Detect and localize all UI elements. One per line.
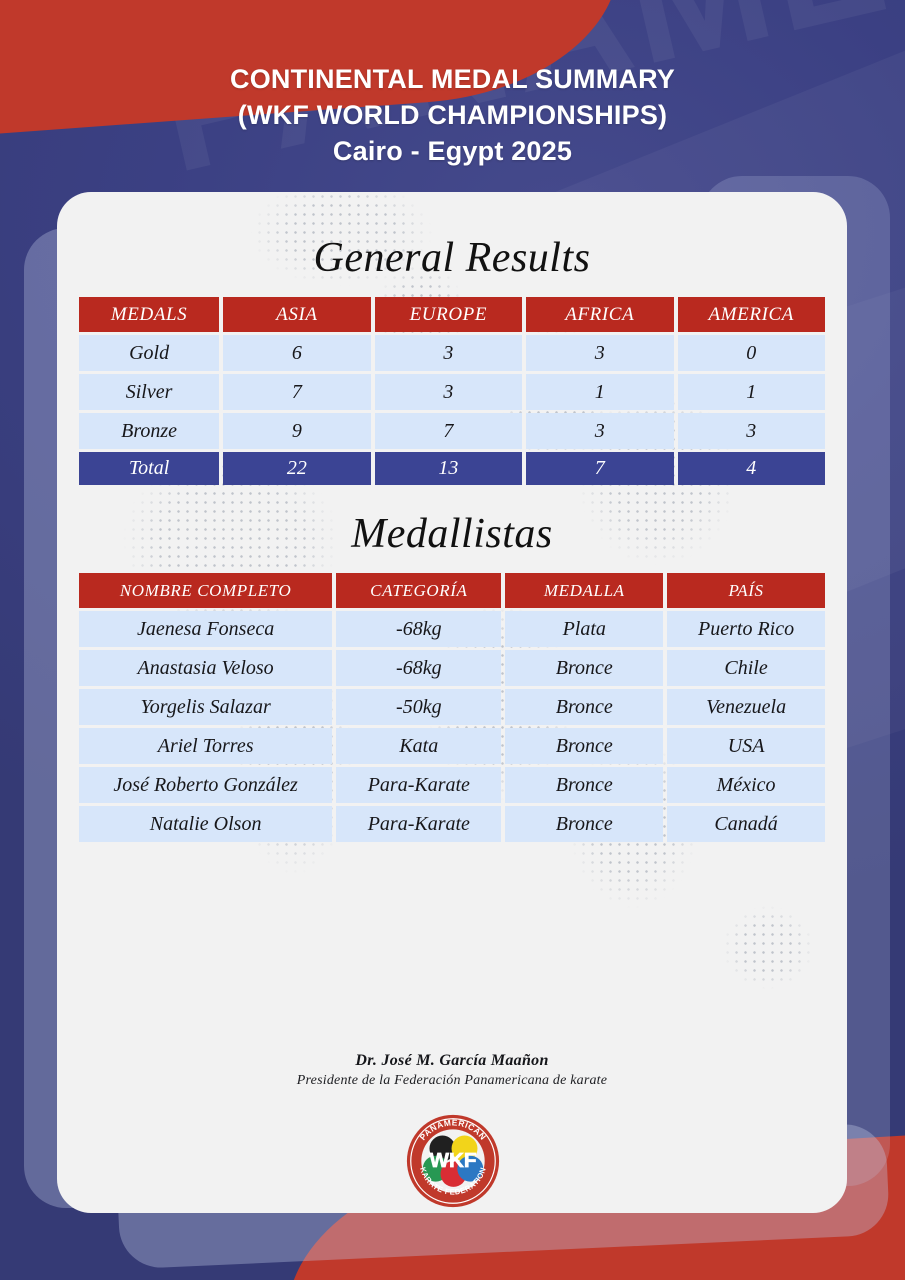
cell-country: USA [667,728,825,764]
col-header-medals: MEDALS [79,297,219,332]
cell-category: Para-Karate [336,806,501,842]
cell-medal: Bronce [505,806,663,842]
cell-gold-asia: 6 [223,335,370,371]
table-row: Jaenesa Fonseca -68kg Plata Puerto Rico [79,611,825,647]
poster-root: PANAMERICAN CONTINENTAL MEDAL SUMMARY (W… [0,0,905,1280]
cell-category: -68kg [336,650,501,686]
cell-name: Natalie Olson [79,806,332,842]
svg-text:WKF: WKF [429,1149,476,1172]
content-card: General Results MEDALS ASIA EUROPE AFRIC… [57,192,847,1213]
signature-name: Dr. José M. García Maañon [57,1052,847,1070]
cell-medal: Bronce [505,650,663,686]
cell-country: Puerto Rico [667,611,825,647]
col-header-nombre-completo: NOMBRE COMPLETO [79,573,332,608]
cell-country: Venezuela [667,689,825,725]
table-row: Anastasia Veloso -68kg Bronce Chile [79,650,825,686]
general-results-table-wrap: MEDALS ASIA EUROPE AFRICA AMERICA Gold 6… [75,282,829,488]
cell-bronze-asia: 9 [223,413,370,449]
col-header-asia: ASIA [223,297,370,332]
cell-name: Anastasia Veloso [79,650,332,686]
cell-country: Canadá [667,806,825,842]
cell-medal: Bronce [505,689,663,725]
cell-gold-europe: 3 [375,335,522,371]
cell-medal: Plata [505,611,663,647]
table-row: Bronze 9 7 3 3 [79,413,825,449]
cell-silver-africa: 1 [526,374,673,410]
cell-gold-america: 0 [678,335,825,371]
table-row: Silver 7 3 1 1 [79,374,825,410]
cell-silver-america: 1 [678,374,825,410]
table-header-row: NOMBRE COMPLETO CATEGORÍA MEDALLA PAÍS [79,573,825,608]
title-line-3: Cairo - Egypt 2025 [0,134,905,170]
cell-country: Chile [667,650,825,686]
cell-bronze-africa: 3 [526,413,673,449]
cell-total-asia: 22 [223,452,370,485]
cell-silver-europe: 3 [375,374,522,410]
cell-country: México [667,767,825,803]
page-title: CONTINENTAL MEDAL SUMMARY (WKF WORLD CHA… [0,62,905,170]
general-results-title: General Results [75,192,829,282]
col-header-europe: EUROPE [375,297,522,332]
cell-name: José Roberto González [79,767,332,803]
title-line-2: (WKF WORLD CHAMPIONSHIPS) [0,98,905,134]
cell-bronze-europe: 7 [375,413,522,449]
signature-role: Presidente de la Federación Panamericana… [57,1073,847,1089]
col-header-america: AMERICA [678,297,825,332]
cell-medal: Bronce [505,728,663,764]
cell-bronze-america: 3 [678,413,825,449]
signature-block: Dr. José M. García Maañon Presidente de … [57,1052,847,1089]
cell-total-america: 4 [678,452,825,485]
medallists-table: NOMBRE COMPLETO CATEGORÍA MEDALLA PAÍS J… [75,570,829,845]
cell-name: Ariel Torres [79,728,332,764]
general-results-table: MEDALS ASIA EUROPE AFRICA AMERICA Gold 6… [75,294,829,488]
table-row: Yorgelis Salazar -50kg Bronce Venezuela [79,689,825,725]
cell-total-africa: 7 [526,452,673,485]
table-total-row: Total 22 13 7 4 [79,452,825,485]
medallists-title: Medallistas [75,488,829,558]
row-label-silver: Silver [79,374,219,410]
cell-category: -50kg [336,689,501,725]
row-label-gold: Gold [79,335,219,371]
table-row: Ariel Torres Kata Bronce USA [79,728,825,764]
cell-name: Yorgelis Salazar [79,689,332,725]
col-header-africa: AFRICA [526,297,673,332]
cell-category: Kata [336,728,501,764]
medallists-table-wrap: NOMBRE COMPLETO CATEGORÍA MEDALLA PAÍS J… [75,558,829,845]
cell-medal: Bronce [505,767,663,803]
table-row: Gold 6 3 3 0 [79,335,825,371]
cell-total-europe: 13 [375,452,522,485]
row-label-bronze: Bronze [79,413,219,449]
cell-name: Jaenesa Fonseca [79,611,332,647]
table-row: Natalie Olson Para-Karate Bronce Canadá [79,806,825,842]
title-line-1: CONTINENTAL MEDAL SUMMARY [0,62,905,98]
cell-silver-asia: 7 [223,374,370,410]
row-label-total: Total [79,452,219,485]
cell-gold-africa: 3 [526,335,673,371]
cell-category: -68kg [336,611,501,647]
wkf-logo-icon: WKF PANAMERICAN KARATE FEDERATION [405,1113,501,1209]
table-header-row: MEDALS ASIA EUROPE AFRICA AMERICA [79,297,825,332]
col-header-categoria: CATEGORÍA [336,573,501,608]
cell-category: Para-Karate [336,767,501,803]
table-row: José Roberto González Para-Karate Bronce… [79,767,825,803]
col-header-pais: PAÍS [667,573,825,608]
col-header-medalla: MEDALLA [505,573,663,608]
wkf-logo: WKF PANAMERICAN KARATE FEDERATION [405,1113,501,1209]
